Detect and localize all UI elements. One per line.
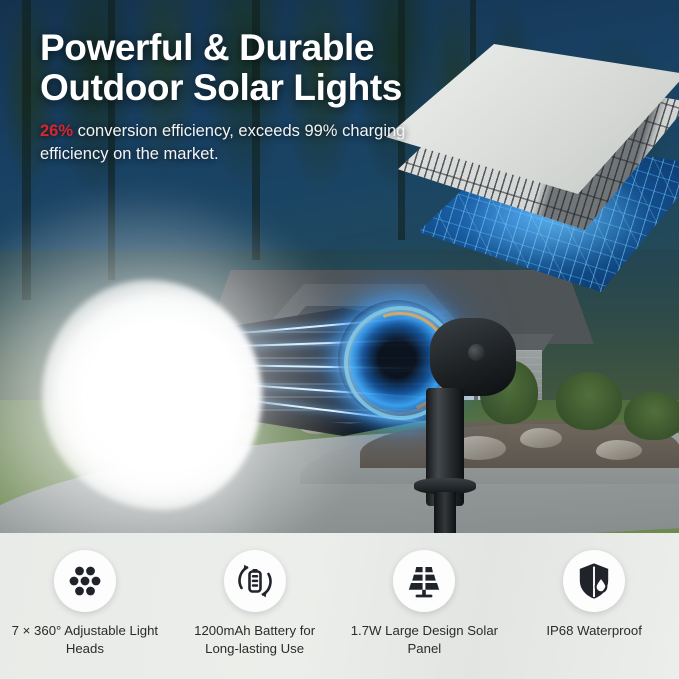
subheadline: 26% conversion efficiency, exceeds 99% c… [40, 120, 470, 167]
shield-water-icon [563, 550, 625, 612]
feature-item-battery: 1200mAh Battery for Long-lasting Use [170, 533, 340, 657]
feature-label: 1200mAh Battery for Long-lasting Use [180, 622, 330, 657]
joint-knob [468, 344, 485, 361]
page-title: Powerful & Durable Outdoor Solar Lights [40, 28, 470, 109]
feature-label: IP68 Waterproof [546, 622, 642, 640]
feature-item-waterproof: IP68 Waterproof [509, 533, 679, 640]
feature-item-solar-panel: 1.7W Large Design Solar Panel [340, 533, 510, 657]
product-scene-photo: Powerful & Durable Outdoor Solar Lights … [0, 0, 679, 533]
headline-block: Powerful & Durable Outdoor Solar Lights … [40, 28, 470, 167]
headline-line-1: Powerful & Durable [40, 27, 374, 68]
led-cluster-icon [54, 550, 116, 612]
feature-bar: 7 × 360° Adjustable Light Heads [0, 533, 679, 679]
ground-stake [434, 492, 456, 533]
product-marketing-image: Powerful & Durable Outdoor Solar Lights … [0, 0, 679, 679]
battery-recharge-icon [224, 550, 286, 612]
solar-panel-icon [393, 550, 455, 612]
headline-line-2: Outdoor Solar Lights [40, 67, 402, 108]
feature-item-light-heads: 7 × 360° Adjustable Light Heads [0, 533, 170, 657]
feature-label: 1.7W Large Design Solar Panel [349, 622, 499, 657]
efficiency-percent: 26% [40, 122, 73, 140]
subheadline-text: conversion efficiency, exceeds 99% charg… [40, 122, 405, 163]
feature-label: 7 × 360° Adjustable Light Heads [10, 622, 160, 657]
